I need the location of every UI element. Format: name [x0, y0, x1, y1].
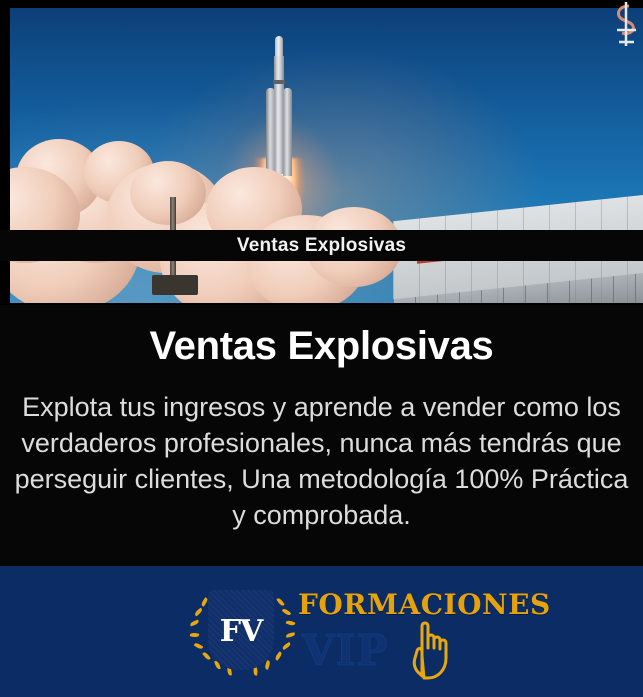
rocket-nose-cone [275, 36, 283, 58]
rocket-interstage-band [273, 80, 285, 84]
logo-monogram: FV [208, 614, 274, 649]
page-description: Explota tus ingresos y aprende a vender … [8, 389, 635, 533]
exhaust-smoke-cloud [10, 103, 430, 303]
hero-banner: SPACEX [0, 0, 643, 305]
partial-logo-watermark [609, 2, 639, 48]
hero-caption-bar: Ventas Explosivas [0, 230, 643, 261]
brand-logo[interactable]: FV FORMACIONES VIP [186, 582, 476, 682]
launch-pad-base [152, 275, 198, 295]
laurel-wreath-icon: FV [186, 584, 298, 680]
logo-word-formaciones: FORMACIONES [298, 588, 551, 621]
shield-icon: FV [208, 590, 274, 670]
footer-bar: FV FORMACIONES VIP [0, 566, 643, 697]
content-section: Ventas Explosivas Explota tus ingresos y… [0, 305, 643, 566]
hand-pointer-icon [408, 618, 462, 680]
hero-caption-text: Ventas Explosivas [237, 235, 406, 257]
logo-word-vip: VIP [302, 626, 389, 675]
page-title: Ventas Explosivas [0, 324, 643, 369]
